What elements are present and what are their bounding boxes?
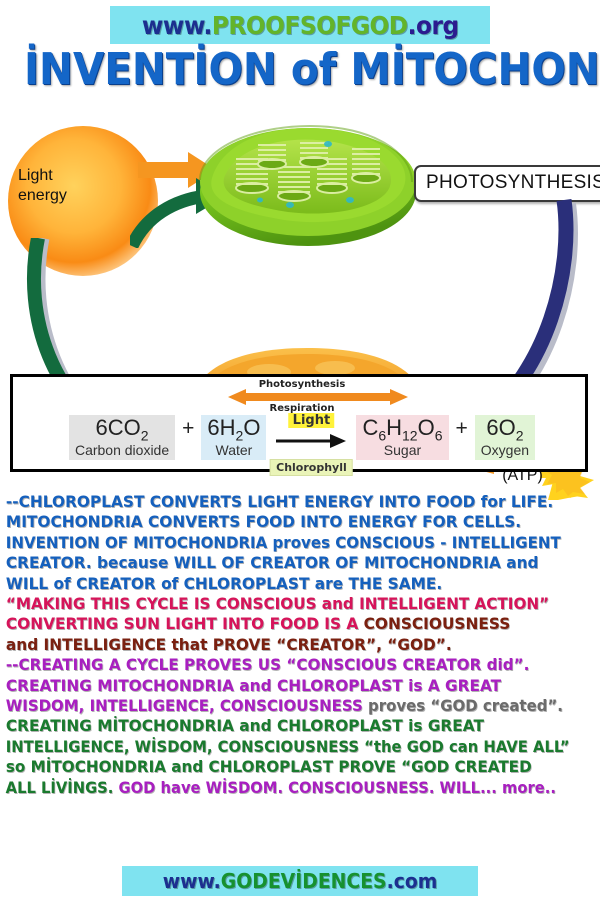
sugar-formula: C6H12O6 [362,416,442,443]
argument-line: WILL of CREATOR of CHLOROPLAST are THE S… [0,574,591,594]
equation-term-o2: 6O2 Oxygen [475,415,535,460]
argument-line-green-part: ALL LİVİNGS. [6,779,119,797]
argument-line: CREATING MİTOCHONDRIA and CHLOROPLAST is… [0,716,591,736]
argument-line: MITOCHONDRIA CONVERTS FOOD INTO ENERGY F… [0,512,591,532]
photosynthesis-equation-box: Photosynthesis Respiration 6CO2 Carbon d… [10,374,588,472]
footer-url-domain: GODEVİDENCES [221,869,387,893]
argument-line: CREATOR. because WILL OF CREATOR OF MITO… [0,553,591,573]
argument-line-crimson-part: CONVERTING SUN LIGHT INTO FOOD IS A [6,615,364,633]
argument-line: --CHLOROPLAST CONVERTS LIGHT ENERGY INTO… [0,492,591,512]
h2o-formula-tail: O [243,415,260,440]
sugar-f2: H [386,415,402,440]
top-url-tld: .org [407,11,458,40]
top-url-www: www. [142,11,212,40]
co2-formula: 6CO2 [75,416,169,443]
o2-formula-main: 6O [486,415,515,440]
equation-plus-2: + [449,415,475,441]
argument-line-grey-part: proves “GOD created”. [363,697,563,715]
h2o-name: Water [207,443,260,458]
footer-url-tld: .com [387,869,438,893]
argument-text-block: --CHLOROPLAST CONVERTS LIGHT ENERGY INTO… [0,492,600,864]
equation-row: 6CO2 Carbon dioxide + 6H2O Water Light C… [23,415,581,463]
footer-url-banner: www.GODEVİDENCES.com [122,866,478,896]
co2-formula-sub: 2 [141,427,149,443]
equation-plus-1: + [175,415,201,441]
chlorophyll-catalyst-label: Chlorophyll [270,459,353,476]
argument-line: and INTELLIGENCE that PROVE “CREATOR”, “… [0,635,591,655]
argument-line: CONVERTING SUN LIGHT INTO FOOD IS A CONS… [0,614,591,634]
co2-name: Carbon dioxide [75,443,169,458]
o2-name: Oxygen [481,443,529,458]
footer-url-text[interactable]: www.GODEVİDENCES.com [163,871,438,891]
equation-term-sugar: C6H12O6 Sugar [356,415,448,460]
equation-direction-arrows: Photosynthesis Respiration [13,379,591,413]
footer-url-www: www. [163,869,221,893]
top-url-domain: PROOFSOFGOD [212,11,408,40]
equation-term-co2: 6CO2 Carbon dioxide [69,415,175,460]
equation-term-h2o: 6H2O Water [201,415,266,460]
argument-line: “MAKING THIS CYCLE IS CONSCIOUS and INTE… [0,594,585,614]
co2-formula-main: 6CO [96,415,141,440]
argument-line-maroon-part: CONSCIOUSNESS [364,615,511,633]
sun-label: Light energy [18,166,128,206]
sugar-f3: O [418,415,435,440]
argument-line-magenta-part: WISDOM, INTELLIGENCE, CONSCIOUSNESS [6,697,363,715]
argument-line: so MİTOCHONDRIA and CHLOROPLAST PROVE “G… [0,757,585,777]
top-url-text[interactable]: www.PROOFSOFGOD.org [142,13,459,38]
argument-line: INTELLIGENCE, WİSDOM, CONSCIOUSNESS “the… [0,737,570,757]
argument-line: --CREATING A CYCLE PROVES US “CONSCIOUS … [0,655,585,675]
sun-label-line1: Light [18,166,128,186]
h2o-formula-main: 6H [207,415,235,440]
sugar-f1: C [362,415,378,440]
argument-line: ALL LİVİNGS. GOD have WİSDOM. CONSCIOUSN… [0,778,567,798]
poster-root: www.PROOFSOFGOD.org İNVENTİON of MİTOCHO… [0,0,600,900]
o2-formula: 6O2 [481,416,529,443]
argument-line: CREATING MITOCHONDRIA and CHLOROPLAST is… [0,676,591,696]
sugar-s3: 6 [435,427,443,443]
o2-formula-sub: 2 [516,427,524,443]
reaction-arrow-icon [276,434,346,448]
page-title: İNVENTİON of MİTOCHONDRİA [24,48,576,92]
sugar-s2: 12 [402,427,418,443]
reaction-arrow-group: Light Chlorophyll [268,415,354,461]
chloroplast-icon [190,120,420,250]
top-url-banner: www.PROOFSOFGOD.org [110,6,490,44]
argument-line-magenta-part: GOD have WİSDOM. CONSCIOUSNESS. WILL... … [119,779,556,797]
sun-label-line2: energy [18,186,128,206]
cycle-diagram: Light energy [0,118,600,490]
argument-line: WISDOM, INTELLIGENCE, CONSCIOUSNESS prov… [0,696,576,716]
light-catalyst-label: Light [289,413,335,428]
sugar-name: Sugar [362,443,442,458]
h2o-formula: 6H2O [207,416,260,443]
argument-line: INVENTION OF MITOCHONDRIA proves CONSCIO… [0,533,579,553]
sugar-s1: 6 [378,427,386,443]
